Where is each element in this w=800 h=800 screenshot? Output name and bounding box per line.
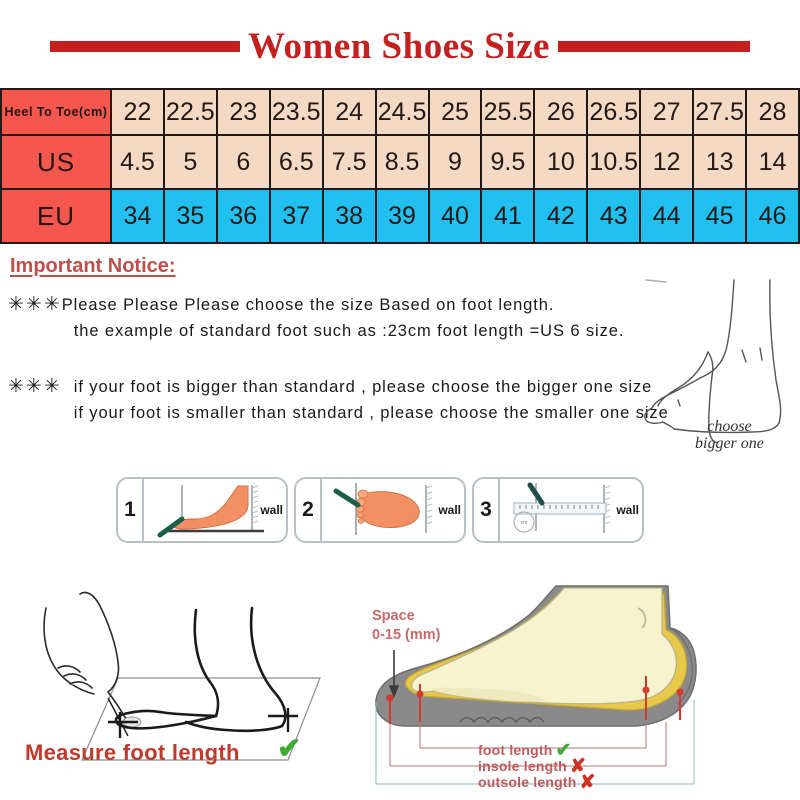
cell-us: 6.5 [270,135,323,189]
row-label-us: US [1,135,111,189]
green-check-icon: ✔ [277,735,301,764]
cell-us: 12 [640,135,693,189]
cell-cm: 25 [429,89,482,135]
cell-us: 5 [164,135,217,189]
cell-us: 9.5 [481,135,534,189]
cell-eu: 44 [640,189,693,243]
table-row-us: US 4.5 5 6 6.5 7.5 8.5 9 9.5 10 10.5 12 … [1,135,799,189]
cell-eu: 41 [481,189,534,243]
cell-cm: 22 [111,89,164,135]
important-notice-heading: Important Notice: [10,255,176,278]
cell-us: 10.5 [587,135,640,189]
cell-cm: 27 [640,89,693,135]
step-number: 3 [474,479,500,541]
notice-lines: if your foot is bigger than standard , p… [62,374,688,426]
caption-line-2: bigger one [695,435,764,452]
measurement-steps: 1 wall [116,477,644,543]
step-card-2: 2 [294,477,466,543]
cell-cm: 28 [746,89,799,135]
cell-us: 13 [693,135,746,189]
cell-eu: 38 [323,189,376,243]
legend-label: outsole length [478,774,576,790]
cell-cm: 26 [534,89,587,135]
space-gap-label: Space 0-15 (mm) [372,607,441,645]
step-2-illustration: wall [322,479,464,541]
svg-text:cm: cm [521,520,528,526]
cell-cm: 26.5 [587,89,640,135]
cell-us: 4.5 [111,135,164,189]
size-chart-page: Women Shoes Size Heel To Toe(cm) 22 22.5… [0,0,800,800]
asterisk-icon: ✳✳✳ [8,292,62,344]
notice-text: if your foot is bigger than standard , p… [62,374,688,400]
caption-line-1: choose [695,418,764,435]
cell-us: 6 [217,135,270,189]
cell-eu: 35 [164,189,217,243]
legend-row-insole-length: insole length ✘ [478,758,595,774]
notice-item: ✳✳✳ if your foot is bigger than standard… [8,374,688,426]
size-conversion-table: Heel To Toe(cm) 22 22.5 23 23.5 24 24.5 … [0,88,800,244]
wall-label: wall [260,503,283,517]
notice-item: ✳✳✳ Please Please Please choose the size… [8,292,688,344]
cell-eu: 37 [270,189,323,243]
notice-text: if your foot is smaller than standard , … [62,400,688,426]
notice-text: the example of standard foot such as :23… [62,318,688,344]
legend-label: foot length [478,742,553,758]
step-card-3: 3 [472,477,644,543]
wall-label: wall [616,503,639,517]
cell-cm: 27.5 [693,89,746,135]
notice-text: Please Please Please choose the size Bas… [62,292,688,318]
cell-us: 14 [746,135,799,189]
table-row-cm: Heel To Toe(cm) 22 22.5 23 23.5 24 24.5 … [1,89,799,135]
length-legend: foot length ✔ insole length ✘ outsole le… [478,742,595,790]
wall-label: wall [438,503,461,517]
cell-eu: 42 [534,189,587,243]
spacer [8,350,688,374]
page-title: Women Shoes Size [244,28,554,65]
cell-eu: 39 [376,189,429,243]
cell-eu: 40 [429,189,482,243]
step-number: 2 [296,479,322,541]
notice-block: ✳✳✳ Please Please Please choose the size… [8,292,688,432]
cell-us: 9 [429,135,482,189]
cell-cm: 24.5 [376,89,429,135]
cell-eu: 34 [111,189,164,243]
cell-eu: 45 [693,189,746,243]
cell-cm: 22.5 [164,89,217,135]
notice-lines: Please Please Please choose the size Bas… [62,292,688,344]
measure-foot-length-label: Measure foot length [25,740,240,766]
step-3-illustration: cm wall [500,479,642,541]
cell-eu: 36 [217,189,270,243]
choose-bigger-one-caption: choose bigger one [695,418,764,452]
cell-eu: 43 [587,189,640,243]
cell-us: 8.5 [376,135,429,189]
space-label-line2: 0-15 (mm) [372,626,441,645]
row-label-heel-to-toe: Heel To Toe(cm) [1,89,111,135]
cell-cm: 23.5 [270,89,323,135]
title-rule-left [50,41,240,52]
cell-cm: 24 [323,89,376,135]
legend-label: insole length [478,758,567,774]
cell-us: 10 [534,135,587,189]
cell-eu: 46 [746,189,799,243]
step-number: 1 [118,479,144,541]
asterisk-icon: ✳✳✳ [8,374,62,426]
cross-icon: ✘ [579,773,595,792]
cell-us: 7.5 [323,135,376,189]
space-label-line1: Space [372,607,441,626]
table-row-eu: EU 34 35 36 37 38 39 40 41 42 43 44 45 4… [1,189,799,243]
step-1-illustration: wall [144,479,286,541]
title-rule-right [558,41,750,52]
cell-cm: 23 [217,89,270,135]
cell-cm: 25.5 [481,89,534,135]
page-title-row: Women Shoes Size [0,22,800,70]
row-label-eu: EU [1,189,111,243]
step-card-1: 1 wall [116,477,288,543]
